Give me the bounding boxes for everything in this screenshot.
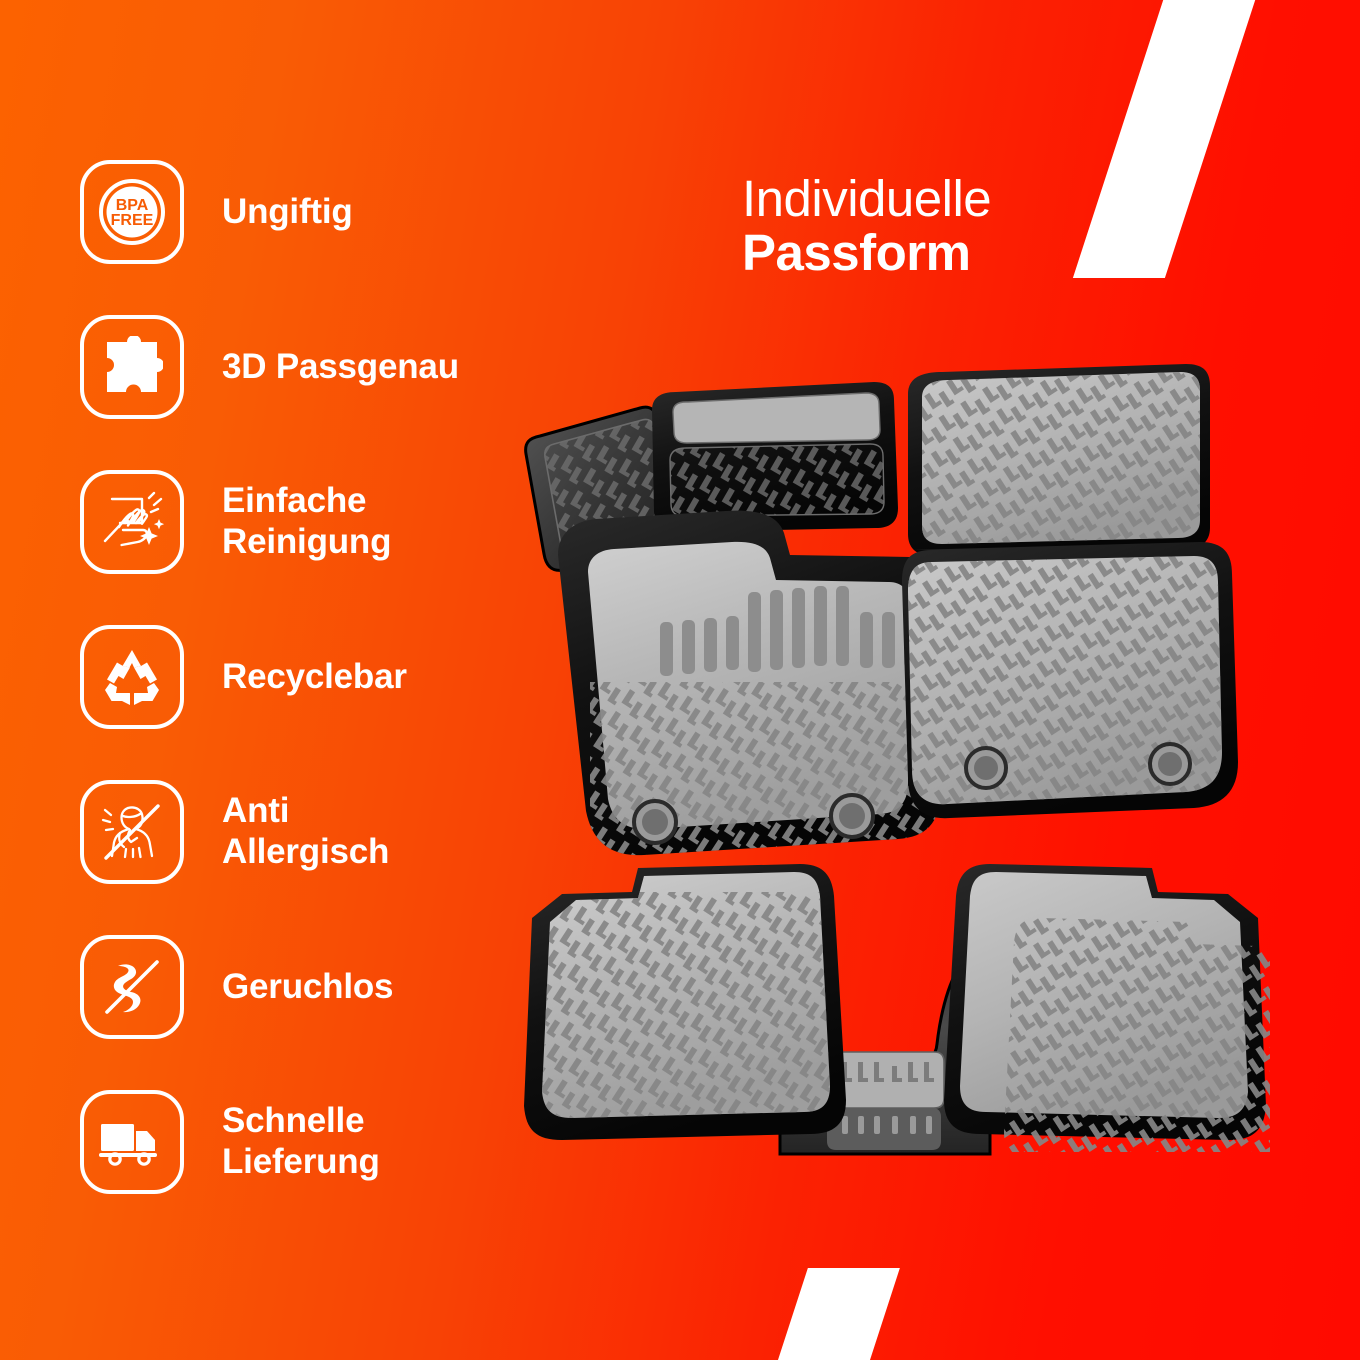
product-feature-banner: BPA FREE Ungiftig 3D Passgenau	[0, 0, 1360, 1360]
diagonal-stripe-top-right	[1073, 0, 1259, 278]
headline-line-2: Passform	[742, 226, 991, 280]
driver-mat-grommet-left	[634, 801, 676, 843]
feature-item-ungiftig: BPA FREE Ungiftig	[80, 160, 510, 264]
feature-label-geruchlos: Geruchlos	[222, 967, 393, 1008]
feature-item-anti-allergisch: Anti Allergisch	[80, 780, 510, 884]
anti-allergic-icon	[80, 780, 184, 884]
passenger-mat-grommet-left	[966, 748, 1006, 788]
easy-cleaning-icon	[80, 470, 184, 574]
feature-label-schnelle-lieferung: Schnelle Lieferung	[222, 1101, 380, 1182]
diagonal-stripe-bottom	[772, 1268, 900, 1360]
feature-item-einfache-reinigung: Einfache Reinigung	[80, 470, 510, 574]
driver-floor-mat	[526, 382, 940, 872]
feature-label-ungiftig: Ungiftig	[222, 192, 353, 233]
feature-label-3d-passgenau: 3D Passgenau	[222, 347, 459, 388]
headline-line-1: Individuelle	[742, 172, 991, 226]
odourless-icon	[80, 935, 184, 1039]
rear-floor-mat	[520, 864, 1270, 1154]
feature-item-3d-passgenau: 3D Passgenau	[80, 315, 510, 419]
feature-item-schnelle-lieferung: Schnelle Lieferung	[80, 1090, 510, 1194]
feature-item-recyclebar: Recyclebar	[80, 625, 510, 729]
bpa-badge-bottom: FREE	[111, 212, 154, 229]
page-title: Individuelle Passform	[742, 172, 991, 280]
delivery-truck-icon	[80, 1090, 184, 1194]
passenger-mat-grommet-right	[1150, 744, 1190, 784]
feature-label-anti-allergisch: Anti Allergisch	[222, 791, 389, 872]
feature-label-recyclebar: Recyclebar	[222, 657, 407, 698]
bpa-free-icon: BPA FREE	[80, 160, 184, 264]
feature-list: BPA FREE Ungiftig 3D Passgenau	[80, 160, 510, 1245]
feature-item-geruchlos: Geruchlos	[80, 935, 510, 1039]
driver-mat-grommet-right	[831, 795, 873, 837]
puzzle-piece-icon	[80, 315, 184, 419]
passenger-floor-mat	[900, 364, 1250, 840]
product-image-group	[480, 340, 1290, 1180]
recycle-icon	[80, 625, 184, 729]
feature-label-einfache-reinigung: Einfache Reinigung	[222, 481, 391, 562]
